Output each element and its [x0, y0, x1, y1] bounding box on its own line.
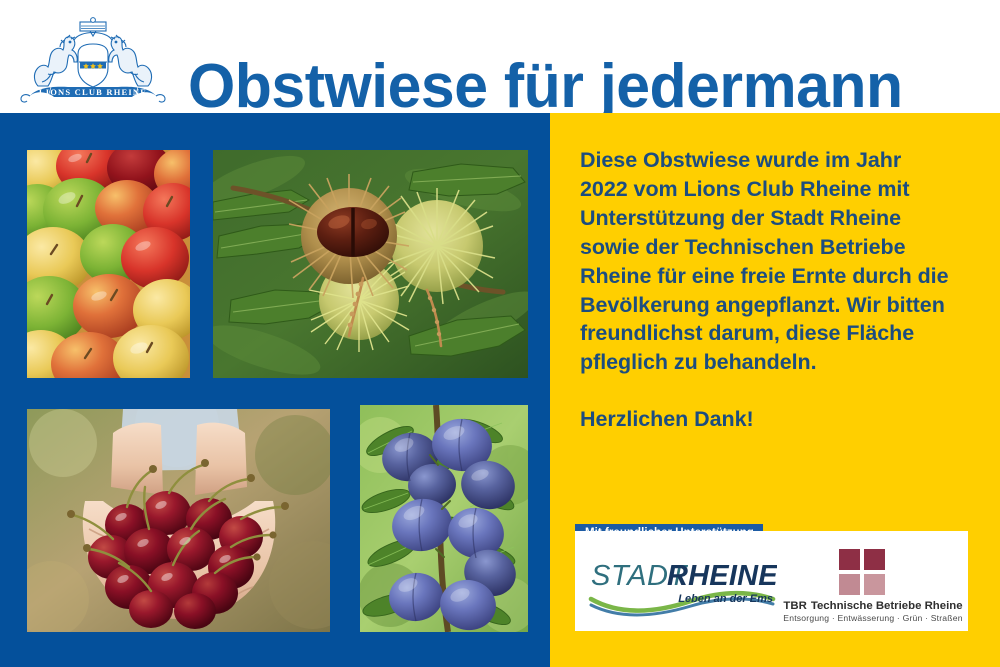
- lions-crest-icon: LIONS CLUB RHEINE: [18, 12, 168, 104]
- tbr-services-line: Entsorgung · Entwässerung · Grün · Straß…: [783, 613, 962, 623]
- photo-cherries: [27, 409, 330, 632]
- body-paragraph: Diese Obstwiese wurde im Jahr 2022 vom L…: [580, 146, 952, 377]
- tbr-abbrev: TBR: [783, 600, 806, 612]
- tbr-full-name: Technische Betriebe Rheine: [811, 600, 963, 612]
- tbr-logo: TBRTechnische Betriebe Rheine Entsorgung…: [783, 545, 963, 625]
- page-title: Obstwiese für jedermann: [188, 56, 972, 118]
- photo-apples: [27, 150, 190, 378]
- header: LIONS CLUB RHEINE Obstwiese für jederman…: [0, 0, 1000, 113]
- poster-board: LIONS CLUB RHEINE Obstwiese für jederman…: [0, 0, 1000, 667]
- rheine-word: RHEINE: [667, 560, 777, 592]
- photo-chestnuts: [213, 150, 528, 378]
- tbr-name-line: TBRTechnische Betriebe Rheine: [783, 600, 962, 612]
- tbr-logo-icon: TBRTechnische Betriebe Rheine Entsorgung…: [783, 545, 963, 625]
- lions-club-rheine-logo: LIONS CLUB RHEINE: [18, 12, 168, 104]
- cherries-image: [27, 409, 330, 632]
- apples-image: [27, 150, 190, 378]
- tbr-squares-icon: [839, 549, 885, 595]
- sponsor-box: STADT RHEINE Leben an der Ems TBRTechnis…: [575, 531, 968, 631]
- chestnuts-image: [213, 150, 528, 378]
- plums-image: [360, 405, 528, 632]
- thanks-line: Herzlichen Dank!: [580, 405, 952, 434]
- lions-banner-text: LIONS CLUB RHEINE: [39, 87, 147, 97]
- photo-plums: [360, 405, 528, 632]
- stadt-rheine-logo-icon: STADT RHEINE Leben an der Ems: [587, 551, 777, 619]
- stadt-rheine-logo: STADT RHEINE Leben an der Ems: [587, 551, 777, 619]
- info-text-block: Diese Obstwiese wurde im Jahr 2022 vom L…: [580, 146, 952, 434]
- stadt-rheine-tagline: Leben an der Ems: [678, 593, 773, 605]
